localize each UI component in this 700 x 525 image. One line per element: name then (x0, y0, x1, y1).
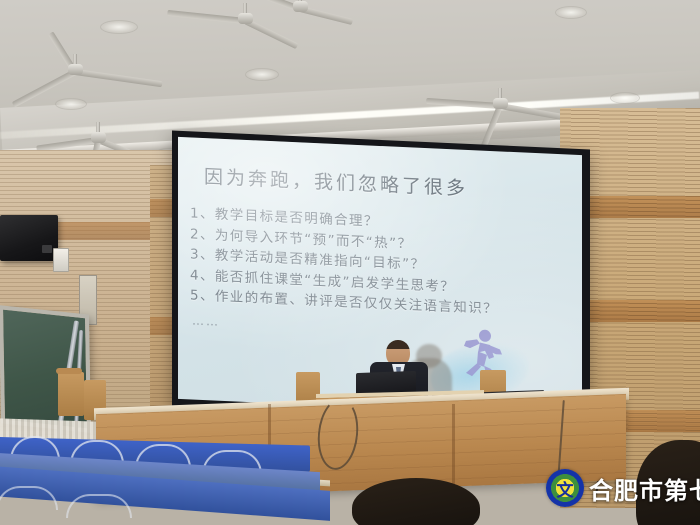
fan-hub (293, 1, 308, 12)
ceiling-fan (10, 45, 140, 93)
ceiling-fan (240, 0, 360, 28)
ceiling-fan (435, 80, 565, 126)
fan-blade (499, 103, 565, 120)
wall-monitor (0, 215, 58, 261)
fan-hub (91, 132, 106, 143)
recessed-light (610, 92, 640, 104)
wooden-chair-back (56, 368, 82, 374)
slide-title: 因为奔跑，我们忽略了很多 (204, 162, 468, 201)
chair-back-arc (66, 494, 132, 518)
wooden-chair (58, 372, 84, 416)
recessed-light (245, 68, 279, 81)
wall-control-box (53, 248, 69, 272)
slide-ellipsis: …… (192, 313, 220, 328)
recessed-light (100, 20, 138, 34)
recessed-light (55, 98, 87, 110)
classroom-photo: 因为奔跑，我们忽略了很多 1、教学目标是否明确合理？ 2、为何导入环节“预”而不… (0, 0, 700, 525)
fan-hub (493, 98, 508, 109)
slide-bullet-list: 1、教学目标是否明确合理？ 2、为何导入环节“预”而不“热”？ 3、教学活动是否… (190, 203, 580, 323)
stage-panel-seam (452, 404, 455, 490)
fan-blade (231, 0, 301, 12)
recessed-light (555, 6, 587, 19)
fan-blade (426, 98, 500, 109)
fan-hub (238, 13, 253, 24)
fan-hub (68, 64, 83, 75)
